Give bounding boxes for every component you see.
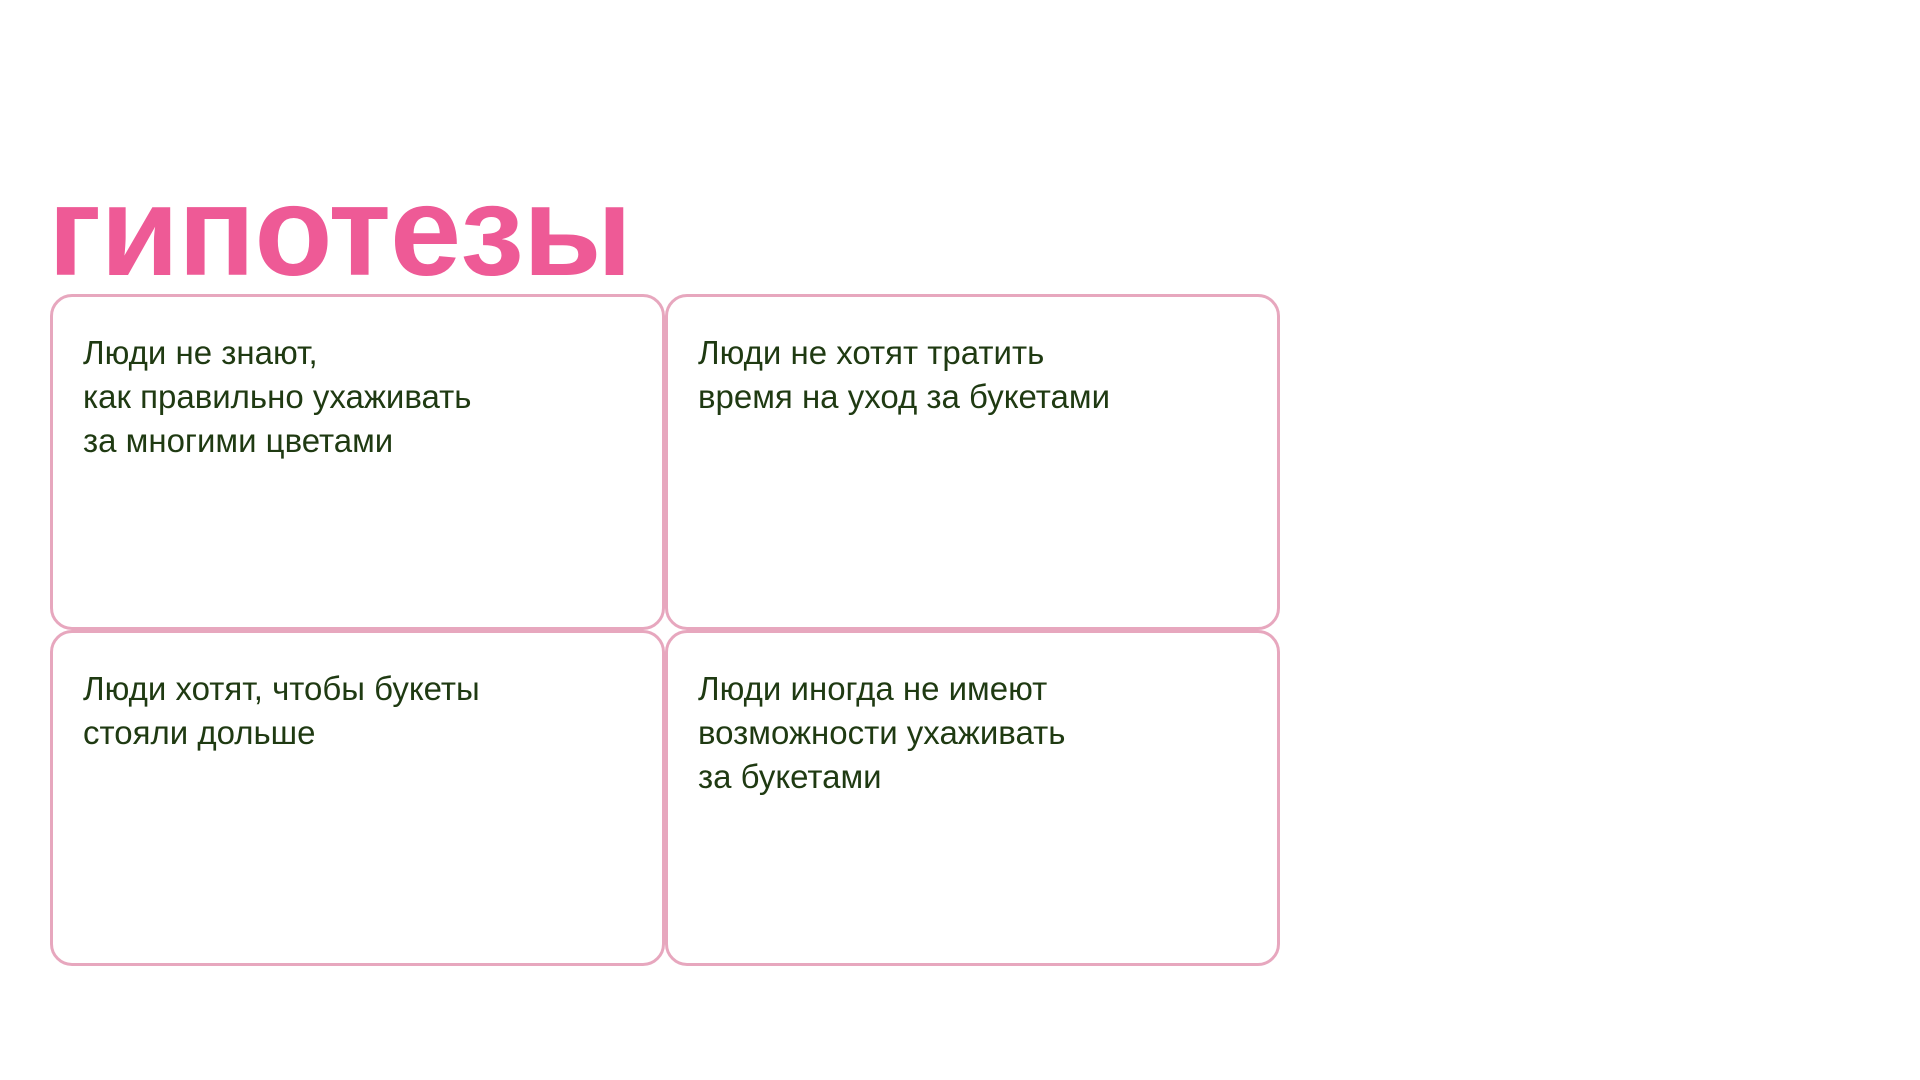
hypothesis-card-3[interactable]: Люди хотят, чтобы букеты стояли дольше xyxy=(50,630,665,966)
hypothesis-card-2-text: Люди не хотят тратить время на уход за б… xyxy=(698,331,1247,419)
hypotheses-grid: Люди не знают, как правильно ухаживать з… xyxy=(50,294,1280,966)
hypothesis-card-4-text: Люди иногда не имеют возможности ухажива… xyxy=(698,667,1247,799)
hypothesis-card-1[interactable]: Люди не знают, как правильно ухаживать з… xyxy=(50,294,665,630)
page-title: гипотезы xyxy=(48,168,631,296)
presentation-slide: гипотезы Люди не знают, как правильно ух… xyxy=(0,0,1920,1080)
hypothesis-card-4[interactable]: Люди иногда не имеют возможности ухажива… xyxy=(665,630,1280,966)
hypothesis-card-2[interactable]: Люди не хотят тратить время на уход за б… xyxy=(665,294,1280,630)
hypothesis-card-3-text: Люди хотят, чтобы букеты стояли дольше xyxy=(83,667,632,755)
hypothesis-card-1-text: Люди не знают, как правильно ухаживать з… xyxy=(83,331,632,463)
